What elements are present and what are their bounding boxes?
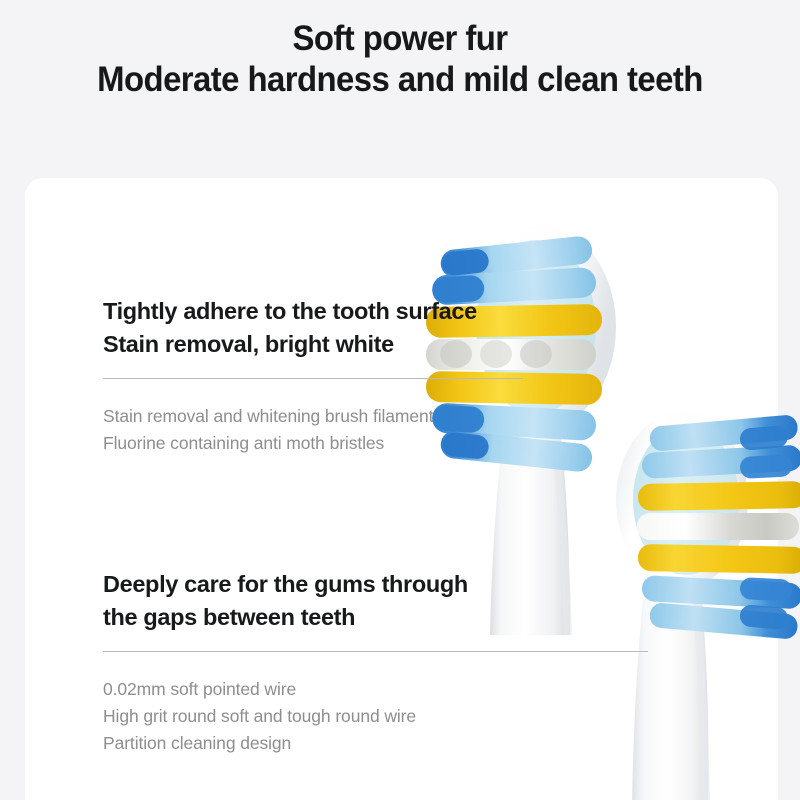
feature-2-sub-line-3: Partition cleaning design <box>103 730 663 757</box>
header-title-line-1: Soft power fur <box>24 18 776 59</box>
header-title-line-2: Moderate hardness and mild clean teeth <box>24 59 776 100</box>
feature-2-divider <box>103 651 648 652</box>
page-header: Soft power fur Moderate hardness and mil… <box>0 0 800 101</box>
feature-2-subtext: 0.02mm soft pointed wire High grit round… <box>103 676 663 757</box>
feature-2-title-line-2: the gaps between teeth <box>103 601 663 634</box>
feature-1-subtext: Stain removal and whitening brush filame… <box>103 403 523 457</box>
feature-2-sub-line-2: High grit round soft and tough round wir… <box>103 703 663 730</box>
feature-2-title-line-1: Deeply care for the gums through <box>103 568 663 601</box>
feature-block-gum-care: Deeply care for the gums through the gap… <box>103 568 663 757</box>
feature-1-sub-line-1: Stain removal and whitening brush filame… <box>103 403 523 430</box>
feature-2-sub-line-1: 0.02mm soft pointed wire <box>103 676 663 703</box>
feature-1-title-line-1: Tightly adhere to the tooth surface <box>103 295 523 328</box>
feature-1-title-line-2: Stain removal, bright white <box>103 328 523 361</box>
feature-1-sub-line-2: Fluorine containing anti moth bristles <box>103 430 523 457</box>
feature-1-divider <box>103 378 523 379</box>
feature-block-adhere-whiten: Tightly adhere to the tooth surface Stai… <box>103 295 523 457</box>
